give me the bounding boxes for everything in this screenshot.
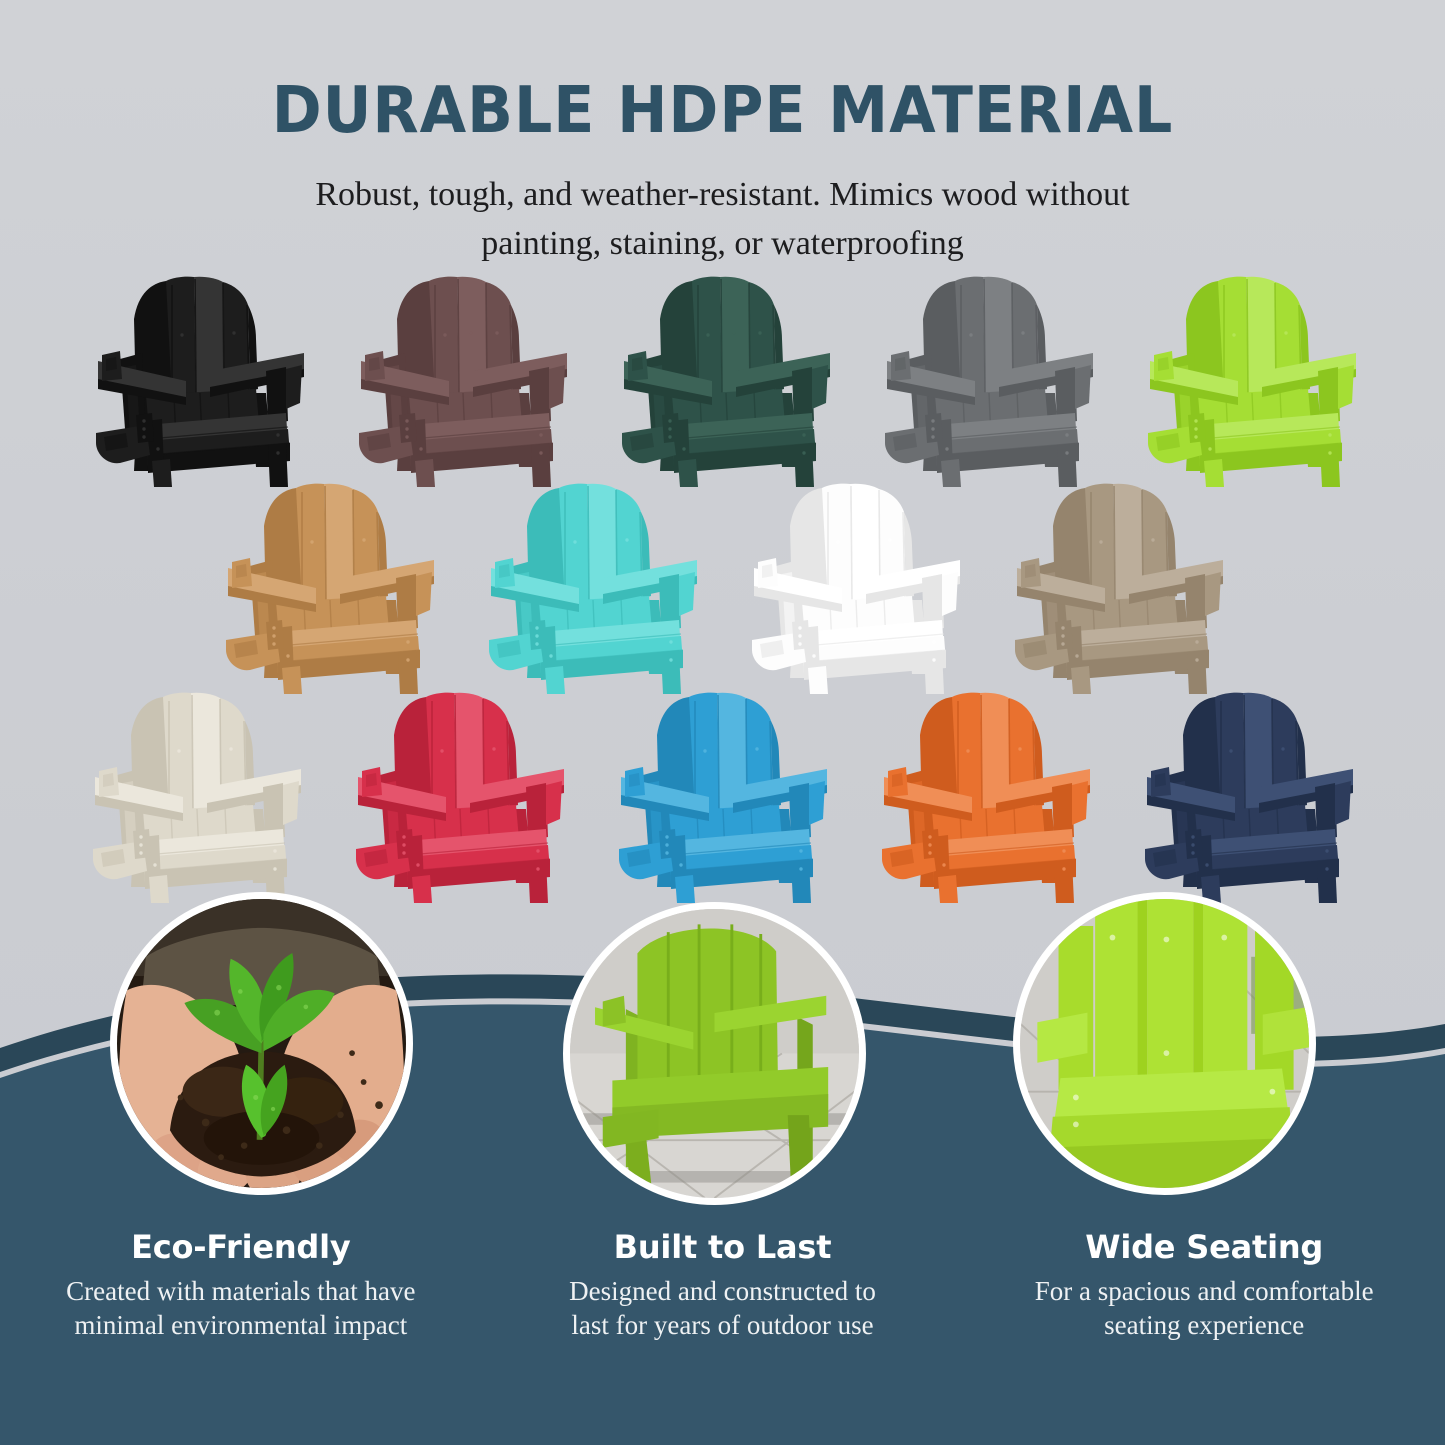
feature-body: For a spacious and comfortable seating e…: [999, 1274, 1409, 1342]
chair-swatch-turquoise[interactable]: [478, 479, 713, 694]
feature-wide-seating: Wide Seating For a spacious and comforta…: [963, 1228, 1445, 1342]
chair-swatch-navy[interactable]: [1134, 688, 1369, 903]
chair-swatch-white[interactable]: [741, 479, 976, 694]
lime-chair-patio-photo: [563, 902, 866, 1205]
chair-row-1: [0, 272, 1445, 487]
feature-heading: Wide Seating: [977, 1228, 1431, 1266]
infographic-page: DURABLE HDPE MATERIAL Robust, tough, and…: [0, 0, 1445, 1445]
chair-svg: [1139, 691, 1364, 903]
page-subtitle: Robust, tough, and weather-resistant. Mi…: [223, 148, 1223, 269]
chair-svg: [483, 482, 708, 694]
seedling-illustration: [117, 899, 406, 1188]
eco-seedling-photo: [110, 892, 413, 1195]
chair-swatch-black[interactable]: [85, 272, 320, 487]
feature-body: Designed and constructed to last for yea…: [523, 1274, 923, 1342]
feature-body-line-2: seating experience: [1104, 1310, 1304, 1340]
chair-row-3: [0, 688, 1445, 903]
chair-row-2: [0, 479, 1445, 694]
feature-heading: Built to Last: [496, 1228, 950, 1266]
chair-svg: [1142, 275, 1367, 487]
chair-svg: [879, 275, 1104, 487]
chair-svg: [746, 482, 971, 694]
feature-body-line-1: For a spacious and comfortable: [1035, 1276, 1374, 1306]
chair-swatch-red[interactable]: [345, 688, 580, 903]
subtitle-line-2: painting, staining, or waterproofing: [223, 219, 1223, 268]
feature-captions: Eco-Friendly Created with materials that…: [0, 1228, 1445, 1342]
chair-svg: [350, 691, 575, 903]
chair-swatch-teak-tan[interactable]: [215, 479, 450, 694]
feature-body-line-2: last for years of outdoor use: [571, 1310, 873, 1340]
feature-body-line-1: Designed and constructed to: [569, 1276, 876, 1306]
chair-svg: [613, 691, 838, 903]
feature-body: Created with materials that have minimal…: [26, 1274, 456, 1342]
header: DURABLE HDPE MATERIAL Robust, tough, and…: [0, 0, 1445, 269]
wide-seat-illustration: [1020, 899, 1309, 1188]
chair-swatch-ivory-cream[interactable]: [82, 688, 317, 903]
chair-swatch-brown[interactable]: [348, 272, 583, 487]
chair-svg: [616, 275, 841, 487]
feature-eco-friendly: Eco-Friendly Created with materials that…: [0, 1228, 482, 1342]
chair-svg: [90, 275, 315, 487]
feature-built-to-last: Built to Last Designed and constructed t…: [482, 1228, 964, 1342]
chair-color-grid: [0, 272, 1445, 903]
page-title: DURABLE HDPE MATERIAL: [43, 0, 1401, 148]
feature-heading: Eco-Friendly: [14, 1228, 468, 1266]
feature-body-line-2: minimal environmental impact: [74, 1310, 407, 1340]
chair-svg: [87, 691, 312, 903]
chair-swatch-orange[interactable]: [871, 688, 1106, 903]
chair-svg: [876, 691, 1101, 903]
chair-svg: [220, 482, 445, 694]
subtitle-line-1: Robust, tough, and weather-resistant. Mi…: [223, 170, 1223, 219]
feature-body-line-1: Created with materials that have: [66, 1276, 415, 1306]
feature-circles: [0, 888, 1445, 1218]
wide-seat-closeup-photo: [1013, 892, 1316, 1195]
chair-swatch-gray[interactable]: [874, 272, 1109, 487]
chair-swatch-lime-green[interactable]: [1137, 272, 1372, 487]
chair-svg: [353, 275, 578, 487]
chair-swatch-sky-blue[interactable]: [608, 688, 843, 903]
chair-swatch-dark-green[interactable]: [611, 272, 846, 487]
chair-swatch-weathered-taupe[interactable]: [1004, 479, 1239, 694]
patio-chair-illustration: [570, 909, 859, 1198]
chair-svg: [1009, 482, 1234, 694]
